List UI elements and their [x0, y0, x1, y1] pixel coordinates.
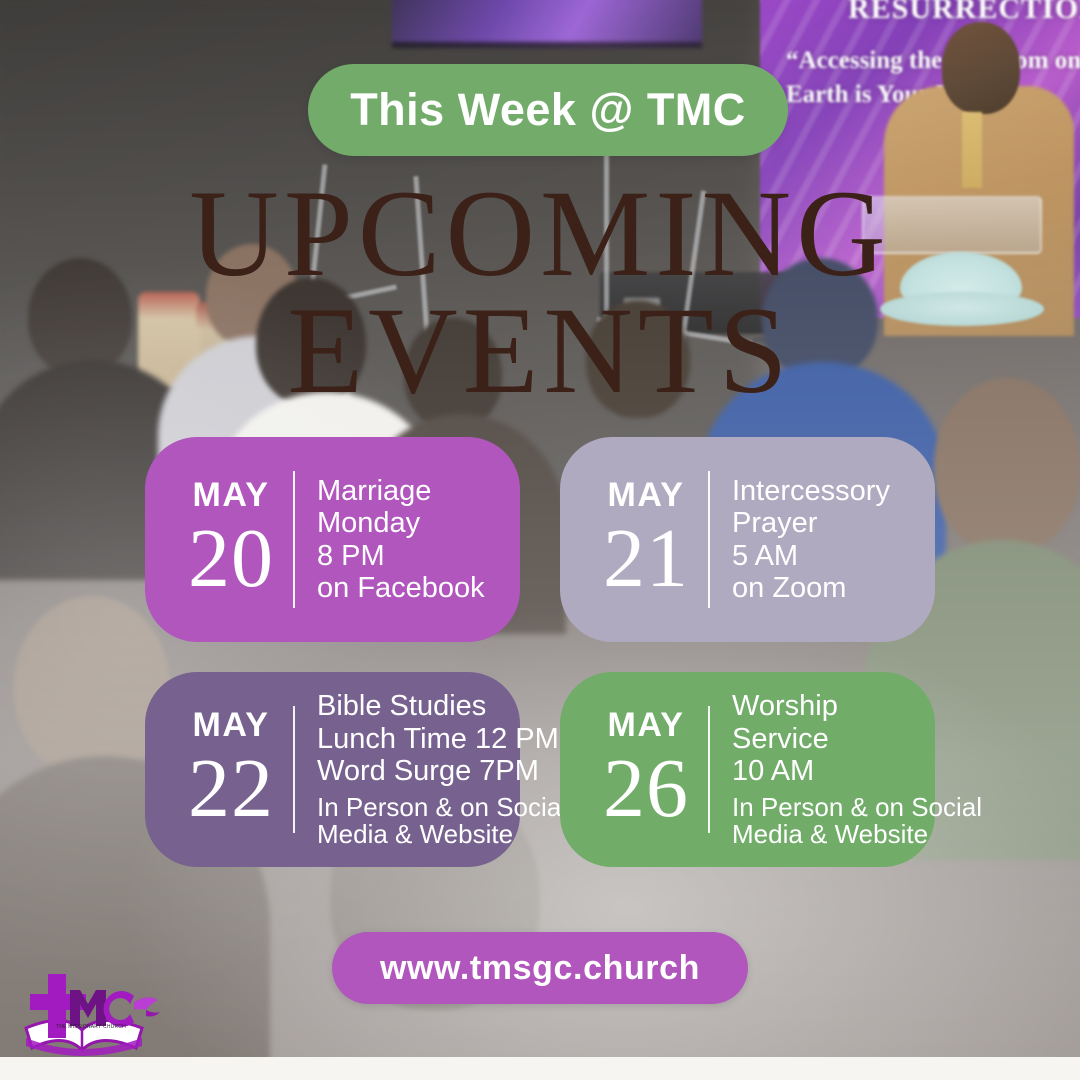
event-details: Bible Studies Lunch Time 12 PM Word Surg…	[295, 690, 567, 848]
event-detail-line: on Facebook	[317, 572, 485, 604]
event-day: 26	[590, 746, 702, 832]
page-title-line1: UPCOMING	[0, 176, 1080, 293]
event-detail-sub: Media & Website	[317, 821, 567, 849]
event-day: 22	[175, 746, 287, 832]
event-detail-sub: Media & Website	[732, 821, 982, 849]
event-detail-line: Word Surge 7PM	[317, 755, 567, 787]
event-card-may-22[interactable]: MAY 22 Bible Studies Lunch Time 12 PM Wo…	[145, 672, 520, 867]
event-detail-line: 8 PM	[317, 540, 485, 572]
page-title-line2: EVENTS	[0, 293, 1080, 410]
event-day: 21	[590, 516, 702, 602]
event-details: Intercessory Prayer 5 AM on Zoom	[710, 475, 890, 605]
event-date: MAY 21	[590, 478, 708, 602]
event-month: MAY	[590, 478, 702, 512]
tmc-logo: THE MISSIONARY CHURCH	[8, 968, 164, 1060]
flyer-canvas: RESURRECTION “Accessing the Kingdom on E…	[0, 0, 1080, 1080]
event-card-may-26[interactable]: MAY 26 Worship Service 10 AM In Person &…	[560, 672, 935, 867]
event-card-may-20[interactable]: MAY 20 Marriage Monday 8 PM on Facebook	[145, 437, 520, 642]
event-date: MAY 22	[175, 708, 293, 832]
event-month: MAY	[175, 478, 287, 512]
website-url: www.tmsgc.church	[380, 949, 700, 988]
event-day: 20	[175, 516, 287, 602]
event-detail-line: Prayer	[732, 507, 890, 539]
event-detail-line: 10 AM	[732, 755, 982, 787]
event-detail-line: Lunch Time 12 PM	[317, 723, 567, 755]
event-detail-line: 5 AM	[732, 540, 890, 572]
event-detail-sub: In Person & on Social	[732, 788, 982, 822]
event-detail-line: Intercessory	[732, 475, 890, 507]
event-month: MAY	[590, 708, 702, 742]
tmc-logo-caption: THE MISSIONARY CHURCH	[32, 1024, 150, 1030]
event-date: MAY 20	[175, 478, 293, 602]
event-month: MAY	[175, 708, 287, 742]
event-detail-line: Monday	[317, 507, 485, 539]
event-card-may-21[interactable]: MAY 21 Intercessory Prayer 5 AM on Zoom	[560, 437, 935, 642]
bottom-white-strip	[0, 1057, 1080, 1080]
event-detail-line: Bible Studies	[317, 690, 567, 722]
this-week-banner: This Week @ TMC	[308, 64, 788, 156]
event-details: Worship Service 10 AM In Person & on Soc…	[710, 690, 982, 848]
events-grid: MAY 20 Marriage Monday 8 PM on Facebook …	[145, 437, 935, 867]
banner-label: This Week @ TMC	[350, 84, 746, 136]
event-detail-line: Service	[732, 723, 982, 755]
event-date: MAY 26	[590, 708, 708, 832]
page-title: UPCOMING EVENTS	[0, 176, 1080, 409]
website-pill[interactable]: www.tmsgc.church	[332, 932, 748, 1004]
events-row-bottom: MAY 22 Bible Studies Lunch Time 12 PM Wo…	[145, 672, 935, 867]
event-detail-line: Marriage	[317, 475, 485, 507]
tmc-logo-icon	[8, 968, 164, 1060]
event-detail-line: on Zoom	[732, 572, 890, 604]
event-detail-line: Worship	[732, 690, 982, 722]
events-row-top: MAY 20 Marriage Monday 8 PM on Facebook …	[145, 437, 935, 642]
event-details: Marriage Monday 8 PM on Facebook	[295, 475, 485, 605]
event-detail-sub: In Person & on Social	[317, 788, 567, 822]
